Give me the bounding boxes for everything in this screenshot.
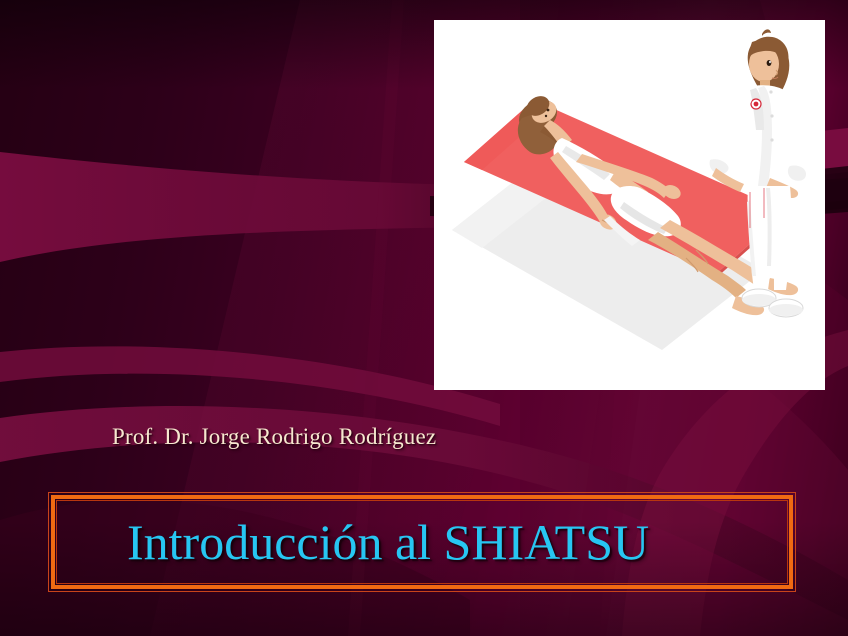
page-title: Introducción al SHIATSU bbox=[57, 513, 649, 571]
title-frame: Introducción al SHIATSU bbox=[48, 492, 796, 592]
shiatsu-illustration-image bbox=[434, 20, 825, 390]
title-frame-middle-border: Introducción al SHIATSU bbox=[51, 495, 793, 589]
shiatsu-illustration-svg bbox=[434, 20, 825, 390]
title-frame-inner: Introducción al SHIATSU bbox=[56, 500, 788, 584]
presentation-slide: Prof. Dr. Jorge Rodrigo Rodríguez Introd… bbox=[0, 0, 848, 636]
presenter-name: Prof. Dr. Jorge Rodrigo Rodríguez bbox=[112, 424, 436, 450]
